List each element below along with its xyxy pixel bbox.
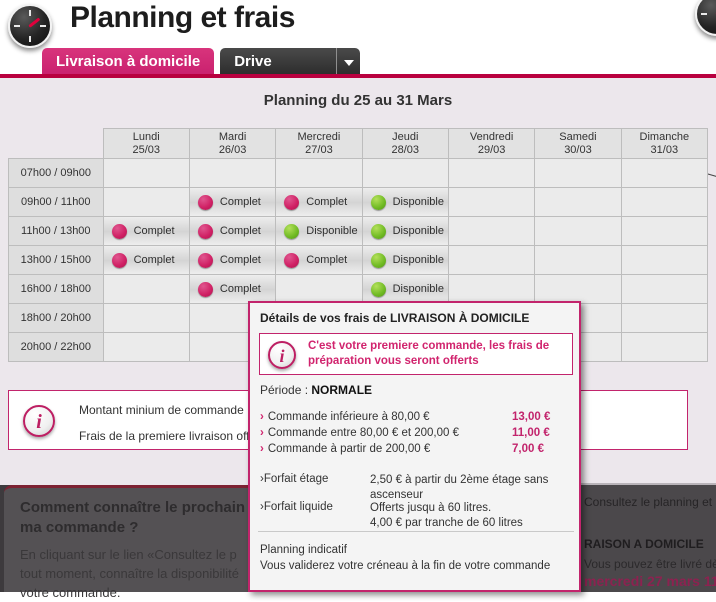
time-slot-label: 16h00 / 18h00	[9, 275, 104, 304]
day-name: Lundi	[104, 131, 189, 144]
forfait-label: ›Forfait liquide	[260, 501, 333, 513]
slot-cell-empty	[535, 188, 621, 217]
slot-cell-disponible[interactable]: Disponible	[362, 188, 448, 217]
slot-cell-empty	[535, 159, 621, 188]
grid-header-row: Lundi25/03Mardi26/03Mercredi27/03Jeudi28…	[9, 129, 708, 159]
forfait-value: 2,50 € à partir du 2ème étage sans ascen…	[370, 473, 570, 503]
slot-status-label: Disponible	[393, 225, 444, 237]
slot-status-label: Complet	[306, 254, 347, 266]
day-date: 25/03	[104, 144, 189, 157]
chevron-right-icon: ›	[260, 411, 264, 423]
slot-cell-empty	[103, 188, 189, 217]
info-min-amount: Montant minium de commande :	[79, 403, 250, 417]
slot-cell-complet[interactable]: Complet	[276, 246, 362, 275]
tab-livraison-a-domicile[interactable]: Livraison à domicile	[42, 48, 214, 76]
grid-day-header: Lundi25/03	[103, 129, 189, 159]
forfait-value: Offerts jusqu à 60 litres. 4,00 € par tr…	[370, 501, 570, 531]
grid-day-header: Vendredi29/03	[448, 129, 534, 159]
status-full-icon	[198, 253, 213, 268]
status-full-icon	[198, 195, 213, 210]
day-date: 30/03	[535, 144, 620, 157]
slot-cell-disponible[interactable]: Disponible	[362, 217, 448, 246]
grid-day-header: Samedi30/03	[535, 129, 621, 159]
slot-cell-complet[interactable]: Complet	[103, 217, 189, 246]
popup-periode: Période : NORMALE	[260, 383, 372, 397]
clock-icon	[8, 4, 52, 48]
time-slot-label: 07h00 / 09h00	[9, 159, 104, 188]
info-icon: i	[268, 341, 296, 369]
slot-cell-disponible[interactable]: Disponible	[362, 246, 448, 275]
fee-amount: 11,00 €	[512, 427, 550, 439]
slot-cell-empty	[621, 275, 707, 304]
time-slot-label: 18h00 / 20h00	[9, 304, 104, 333]
slot-cell-empty	[103, 159, 189, 188]
day-date: 28/03	[363, 144, 448, 157]
slot-cell-complet[interactable]: Complet	[189, 188, 275, 217]
grid-row: 07h00 / 09h00	[9, 159, 708, 188]
grid-day-header: Mardi26/03	[189, 129, 275, 159]
slot-cell-complet[interactable]: Complet	[276, 188, 362, 217]
slot-cell-empty	[448, 246, 534, 275]
fee-label: Commande inférieure à 80,00 €	[268, 411, 430, 423]
info-icon: i	[23, 405, 55, 437]
day-date: 27/03	[276, 144, 361, 157]
time-slot-label: 09h00 / 11h00	[9, 188, 104, 217]
info-first-delivery: Frais de la premiere livraison offe	[79, 429, 256, 443]
slot-status-label: Complet	[220, 283, 261, 295]
slot-cell-empty	[448, 188, 534, 217]
grid-day-header: Mercredi27/03	[276, 129, 362, 159]
slot-cell-disponible[interactable]: Disponible	[276, 217, 362, 246]
planning-title: Planning du 25 au 31 Mars	[0, 92, 716, 109]
status-full-icon	[112, 253, 127, 268]
day-name: Vendredi	[449, 131, 534, 144]
day-date: 29/03	[449, 144, 534, 157]
periode-label: Période :	[260, 383, 311, 397]
slot-cell-empty	[621, 159, 707, 188]
chevron-right-icon: ›	[260, 443, 264, 455]
status-full-icon	[284, 253, 299, 268]
status-available-icon	[371, 282, 386, 297]
day-name: Mardi	[190, 131, 275, 144]
popup-alert-box: i C'est votre premiere commande, les fra…	[259, 333, 573, 375]
slot-status-label: Complet	[220, 225, 261, 237]
fee-amount: 13,00 €	[512, 411, 550, 423]
clock-icon-secondary	[695, 0, 716, 36]
slot-status-label: Disponible	[393, 254, 444, 266]
summary-date: mercredi 27 mars 11	[584, 573, 716, 589]
fee-row: ›Commande entre 80,00 € et 200,00 €	[260, 427, 459, 439]
slot-cell-empty	[621, 188, 707, 217]
forfait-label: ›Forfait étage	[260, 473, 328, 485]
grid-row: 11h00 / 13h00CompletCompletDisponibleDis…	[9, 217, 708, 246]
status-available-icon	[371, 224, 386, 239]
footer-line-2: Vous validerez votre créneau à la fin de…	[260, 558, 572, 574]
slot-status-label: Complet	[134, 225, 175, 237]
summary-link[interactable]: Consultez le planning et les t	[584, 495, 716, 509]
slot-status-label: Complet	[134, 254, 175, 266]
grid-row: 13h00 / 15h00CompletCompletCompletDispon…	[9, 246, 708, 275]
time-slot-label: 11h00 / 13h00	[9, 217, 104, 246]
day-name: Samedi	[535, 131, 620, 144]
slot-status-label: Complet	[306, 196, 347, 208]
forfait-label-text: Forfait étage	[264, 473, 329, 485]
slot-cell-empty	[189, 159, 275, 188]
status-full-icon	[198, 282, 213, 297]
slot-cell-empty	[535, 246, 621, 275]
popup-footer: Planning indicatif Vous validerez votre …	[260, 542, 572, 574]
slot-cell-empty	[448, 275, 534, 304]
slot-cell-empty	[448, 159, 534, 188]
slot-cell-complet[interactable]: Complet	[103, 246, 189, 275]
slot-cell-complet[interactable]: Complet	[189, 275, 275, 304]
fee-row: ›Commande inférieure à 80,00 €	[260, 411, 430, 423]
day-name: Dimanche	[622, 131, 707, 144]
forfait-label-text: Forfait liquide	[264, 501, 333, 513]
slot-status-label: Disponible	[393, 196, 444, 208]
popup-divider	[258, 531, 574, 532]
slot-cell-empty	[103, 304, 189, 333]
page-header: Planning et frais Livraison à domicile D…	[0, 0, 716, 78]
slot-cell-empty	[448, 217, 534, 246]
tab-label: Drive	[234, 53, 272, 70]
status-available-icon	[371, 195, 386, 210]
time-slot-label: 13h00 / 15h00	[9, 246, 104, 275]
slot-cell-empty	[276, 159, 362, 188]
fee-row: ›Commande à partir de 200,00 €	[260, 443, 430, 455]
grid-day-header: Jeudi28/03	[362, 129, 448, 159]
tab-drive[interactable]: Drive	[220, 48, 360, 76]
slot-cell-complet[interactable]: Complet	[189, 217, 275, 246]
slot-cell-empty	[276, 275, 362, 304]
tab-bar: Livraison à domicile Drive	[42, 48, 360, 76]
fee-amount: 7,00 €	[512, 443, 544, 455]
slot-cell-empty	[103, 275, 189, 304]
status-available-icon	[371, 253, 386, 268]
day-name: Mercredi	[276, 131, 361, 144]
slot-status-label: Disponible	[393, 283, 444, 295]
status-available-icon	[284, 224, 299, 239]
periode-value: NORMALE	[311, 383, 372, 397]
status-full-icon	[112, 224, 127, 239]
status-full-icon	[198, 224, 213, 239]
tab-label: Livraison à domicile	[56, 53, 200, 70]
slot-cell-empty	[621, 333, 707, 362]
delivery-summary-panel: Consultez le planning et les t RAISON A …	[576, 485, 716, 592]
fees-details-popup: Détails de vos frais de LIVRAISON À DOMI…	[248, 301, 581, 592]
day-date: 31/03	[622, 144, 707, 157]
slot-status-label: Disponible	[306, 225, 357, 237]
slot-status-label: Complet	[220, 254, 261, 266]
fee-label: Commande à partir de 200,00 €	[268, 443, 430, 455]
summary-text: Vous pouvez être livré dès	[584, 557, 716, 571]
day-name: Jeudi	[363, 131, 448, 144]
day-date: 26/03	[190, 144, 275, 157]
status-full-icon	[284, 195, 299, 210]
slot-cell-empty	[621, 217, 707, 246]
slot-cell-empty	[535, 217, 621, 246]
grid-row: 09h00 / 11h00CompletCompletDisponible	[9, 188, 708, 217]
popup-title: Détails de vos frais de LIVRAISON À DOMI…	[260, 311, 529, 325]
alert-message: C'est votre premiere commande, les frais…	[308, 339, 564, 369]
slot-cell-empty	[103, 333, 189, 362]
summary-heading: RAISON A DOMICILE	[584, 537, 704, 551]
page-title: Planning et frais	[70, 1, 295, 35]
chevron-down-icon[interactable]	[336, 48, 360, 76]
slot-status-label: Complet	[220, 196, 261, 208]
chevron-right-icon: ›	[260, 427, 264, 439]
slot-cell-empty	[535, 275, 621, 304]
fee-label: Commande entre 80,00 € et 200,00 €	[268, 427, 459, 439]
grid-day-header: Dimanche31/03	[621, 129, 707, 159]
time-slot-label: 20h00 / 22h00	[9, 333, 104, 362]
slot-cell-complet[interactable]: Complet	[189, 246, 275, 275]
slot-cell-disponible[interactable]: Disponible	[362, 275, 448, 304]
slot-cell-empty	[621, 304, 707, 333]
footer-line-1: Planning indicatif	[260, 542, 572, 558]
grid-corner	[9, 129, 104, 159]
slot-cell-empty	[362, 159, 448, 188]
grid-row: 16h00 / 18h00CompletDisponible	[9, 275, 708, 304]
slot-cell-empty	[621, 246, 707, 275]
